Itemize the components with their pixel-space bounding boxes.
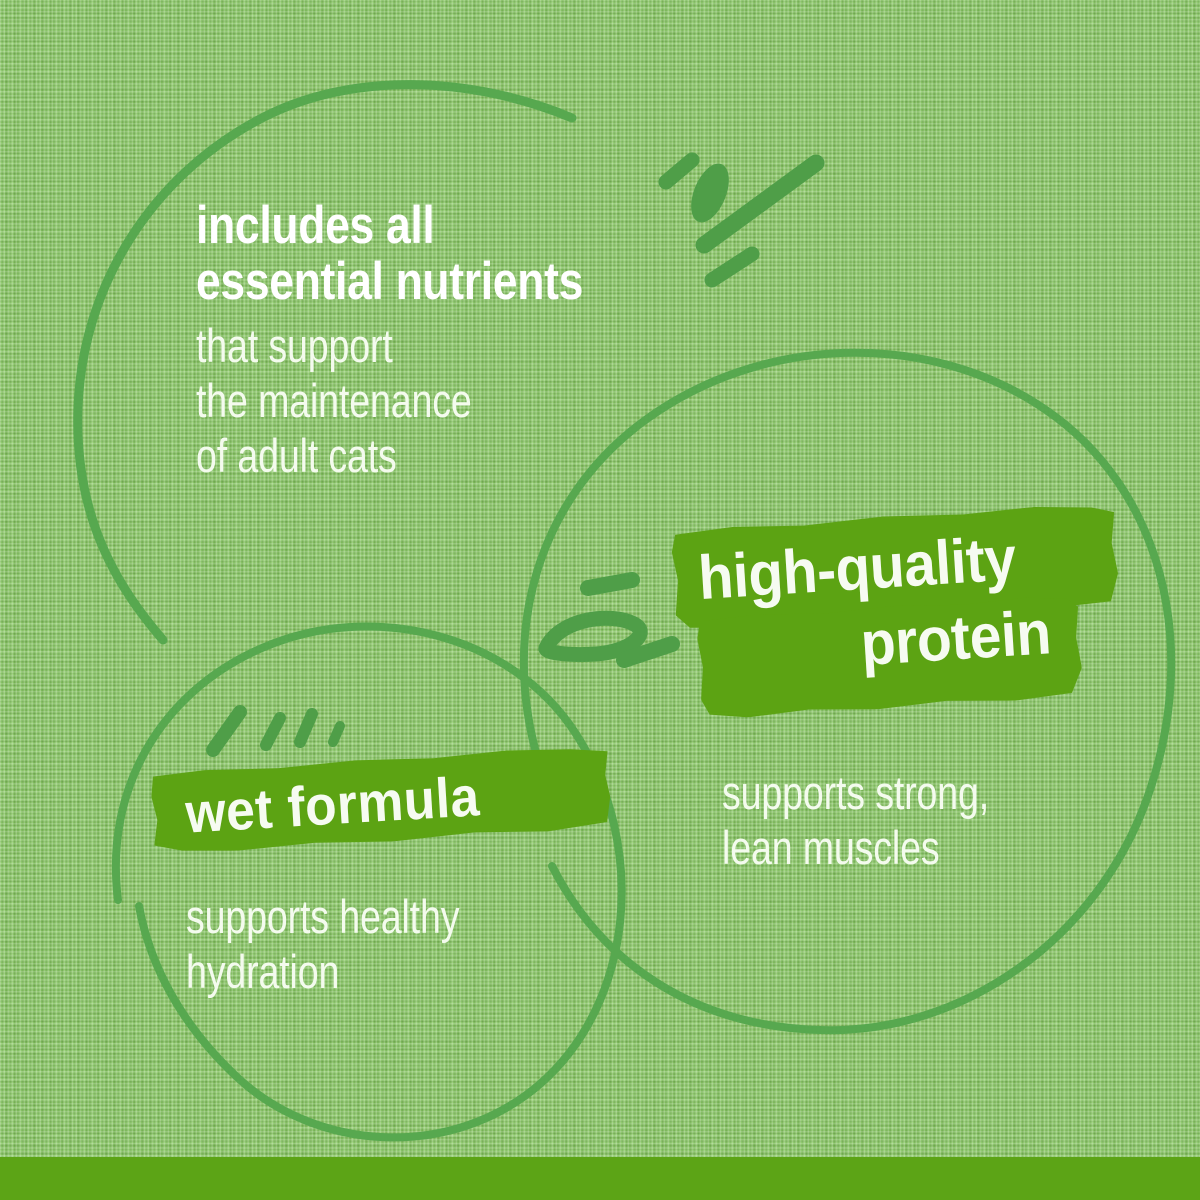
headline-line-2: essential nutrients: [196, 254, 583, 310]
body-line-2: the maintenance: [196, 374, 565, 429]
sparkle-top-right: [666, 158, 816, 280]
body-line-3: of adult cats: [196, 429, 565, 484]
sparkle-center: [546, 580, 672, 660]
callout-essential-nutrients: includes all essential nutrients that su…: [196, 198, 657, 484]
body-line-1: supports strong,: [722, 766, 989, 821]
body-line-1: that support: [196, 319, 565, 374]
headline-line-1: includes all: [196, 198, 583, 254]
sparkle-above-wet-formula: [213, 712, 340, 750]
circle-bottom-left: [116, 627, 622, 1138]
body-line-1: supports healthy: [186, 890, 459, 945]
bottom-accent-bar: [0, 1157, 1200, 1200]
product-benefits-poster: includes all essential nutrients that su…: [0, 0, 1200, 1200]
body-line-2: lean muscles: [722, 821, 989, 876]
callout-high-quality-protein-body: supports strong, lean muscles: [722, 766, 1056, 876]
body-line-2: hydration: [186, 945, 459, 1000]
badge-high-quality-protein: high-quality protein: [662, 494, 1126, 730]
callout-wet-formula-body: supports healthy hydration: [186, 890, 528, 1000]
